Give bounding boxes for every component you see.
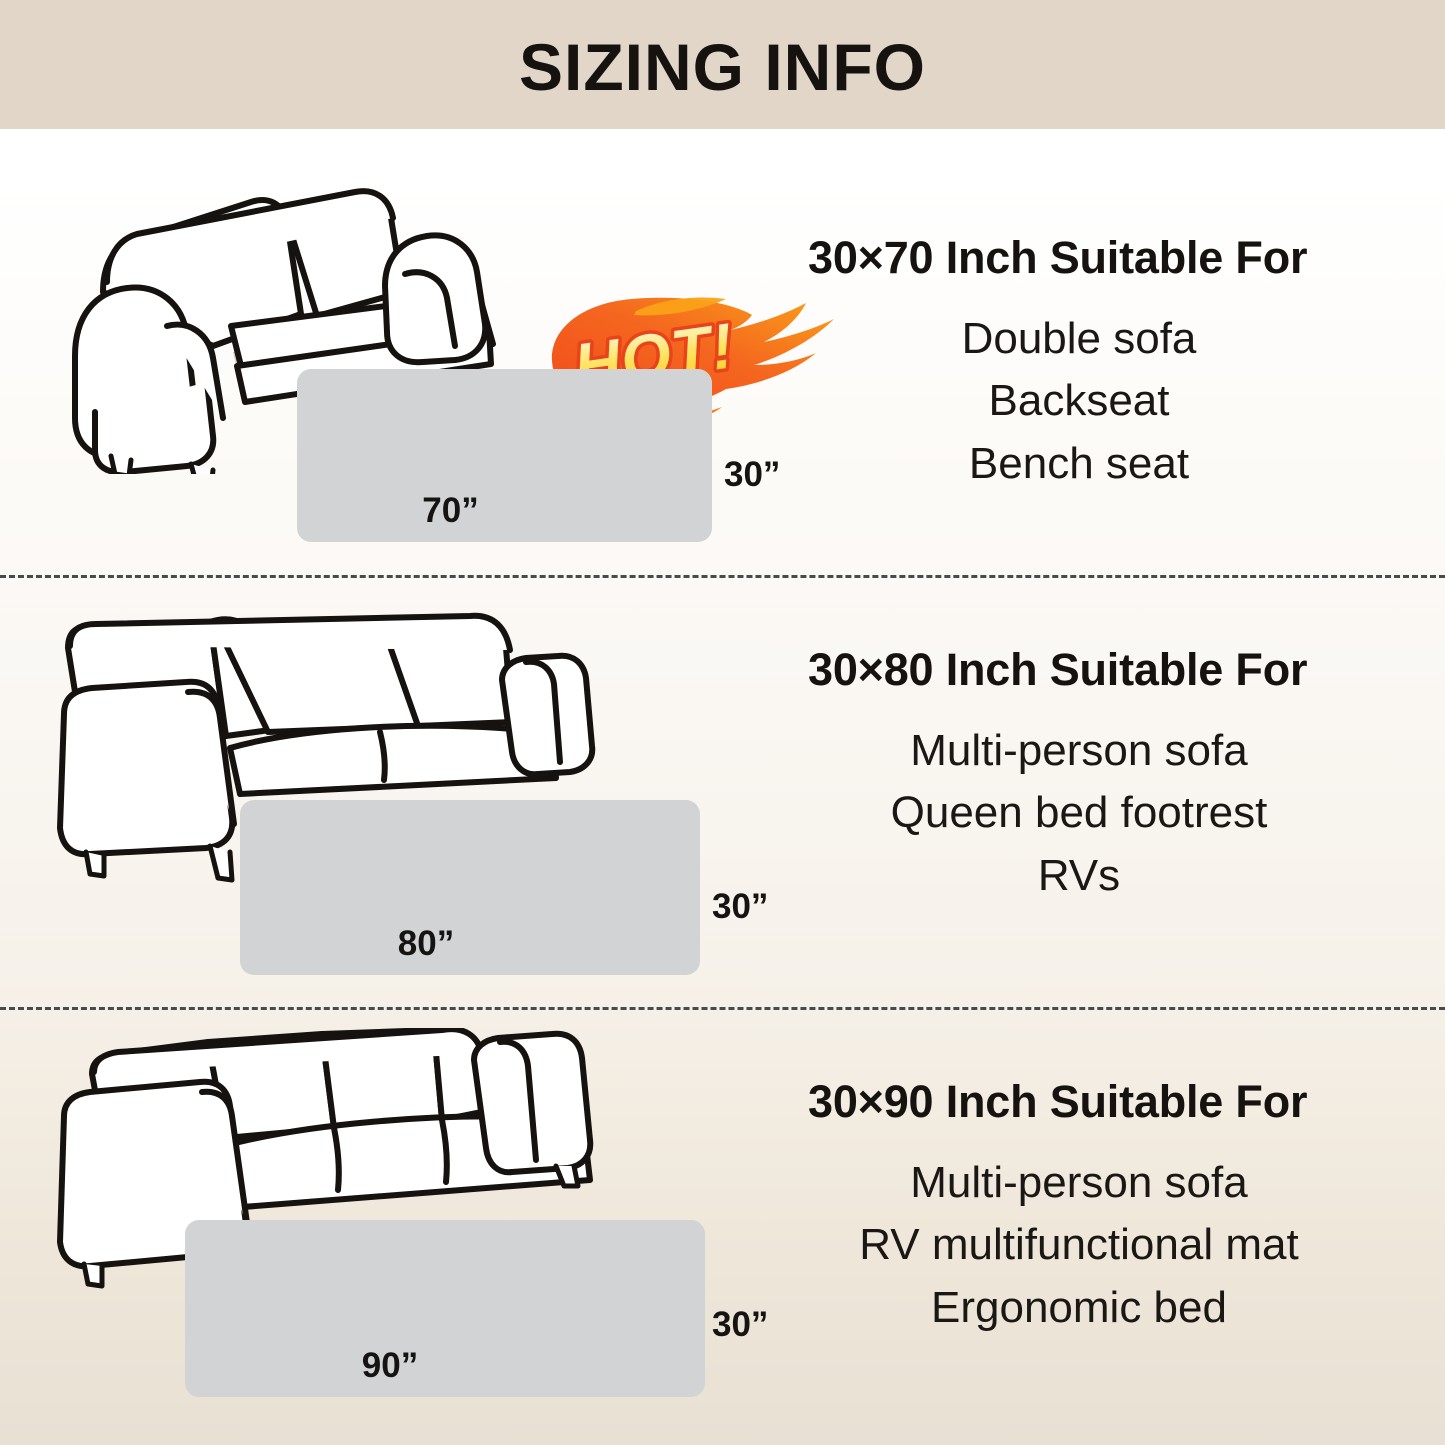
size-item: Multi-person sofa [790,720,1368,782]
sizing-info-page: SIZING INFO [0,0,1445,1445]
size-text-block: 30×70 Inch Suitable For Double sofa Back… [790,232,1390,495]
plate-height-label: 30” [712,1305,768,1345]
size-item: Queen bed footrest [790,782,1368,844]
size-item: Backseat [790,370,1368,432]
plate-height-label: 30” [724,455,780,495]
size-heading: 30×70 Inch Suitable For [808,232,1390,284]
size-item: Multi-person sofa [790,1152,1368,1214]
size-heading: 30×90 Inch Suitable For [808,1076,1390,1128]
size-item: Double sofa [790,308,1368,370]
plate-height-label: 30” [712,887,768,927]
size-item-list: Double sofa Backseat Bench seat [790,308,1390,495]
dimension-plate: 90” [185,1220,705,1397]
size-section-30x70: HOT! 70” 30” 30×70 Inch Suitable For Dou… [0,129,1445,576]
page-title: SIZING INFO [0,29,1445,105]
size-text-block: 30×80 Inch Suitable For Multi-person sof… [790,644,1390,907]
dimension-plate: 80” [240,800,700,975]
size-section-30x80: 80” 30” 30×80 Inch Suitable For Multi-pe… [0,576,1445,1008]
size-item-list: Multi-person sofa Queen bed footrest RVs [790,720,1390,907]
plate-width-label: 90” [185,1346,705,1386]
plate-width-label: 80” [240,924,700,964]
size-text-block: 30×90 Inch Suitable For Multi-person sof… [790,1076,1390,1339]
dimension-plate: 70” [297,369,712,542]
size-item-list: Multi-person sofa RV multifunctional mat… [790,1152,1390,1339]
size-item: RVs [790,845,1368,907]
size-item: Ergonomic bed [790,1277,1368,1339]
size-item: RV multifunctional mat [790,1214,1368,1276]
plate-width-label: 70” [297,491,712,531]
size-item: Bench seat [790,433,1368,495]
size-section-30x90: 90” 30” 30×90 Inch Suitable For Multi-pe… [0,1008,1445,1445]
size-heading: 30×80 Inch Suitable For [808,644,1390,696]
